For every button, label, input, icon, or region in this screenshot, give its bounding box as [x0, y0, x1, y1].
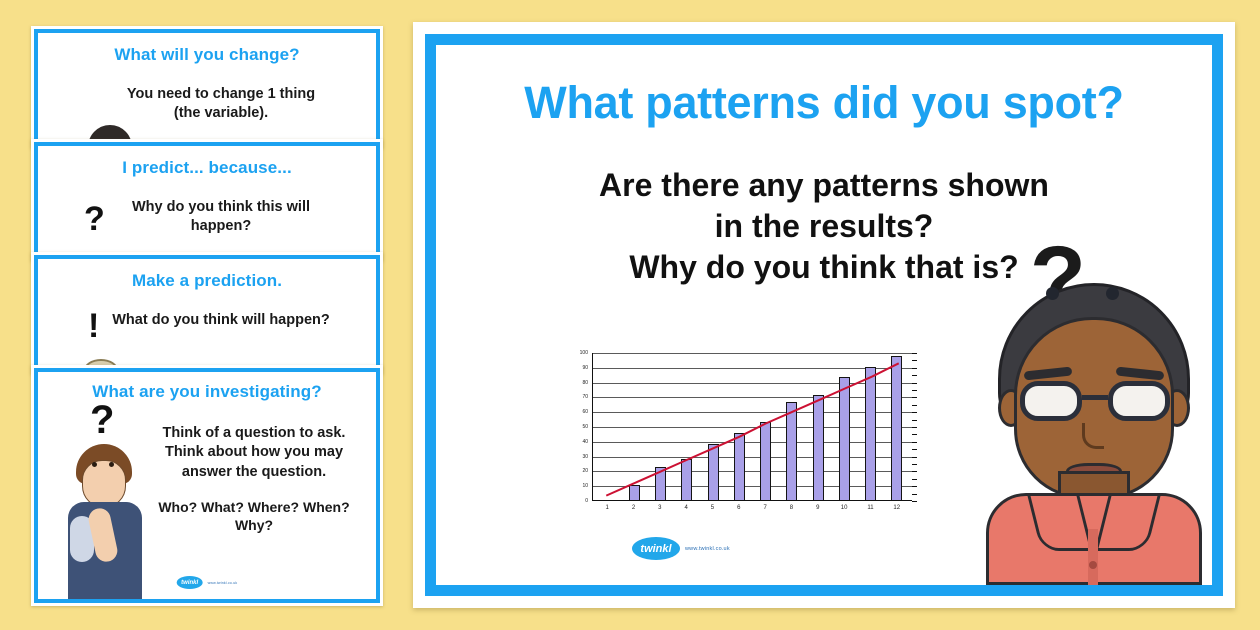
- chart-bar: [786, 402, 797, 500]
- chart-axis-tick: [912, 471, 917, 472]
- glasses-bridge: [1082, 395, 1108, 400]
- mini-card-title: I predict... because...: [38, 158, 376, 178]
- mini-card-inner: What will you change? You need to change…: [34, 29, 380, 145]
- chart-axis-tick: [912, 390, 917, 391]
- chart-axis-tick: [912, 442, 917, 443]
- chart-x-tick: 6: [726, 505, 752, 511]
- chart-y-tick: 10: [582, 483, 588, 489]
- twinkl-url: www.twinkl.co.uk: [685, 546, 730, 552]
- chart-bar-slot: [726, 353, 752, 500]
- mini-card-body-sub: Who? What? Where? When? Why?: [150, 498, 358, 535]
- main-poster-inner: What patterns did you spot? Are there an…: [425, 34, 1223, 596]
- glasses-lens-left: [1020, 381, 1082, 421]
- chart-bar: [629, 485, 640, 500]
- chart-x-axis: 123456789101112: [592, 505, 912, 511]
- chart-y-tick: 20: [582, 468, 588, 474]
- chart-axis-tick: [912, 420, 917, 421]
- chart-x-tick: 3: [647, 505, 673, 511]
- twinkl-cloud-icon: twinkl: [632, 537, 680, 560]
- glasses-lens-right: [1108, 381, 1170, 421]
- chart-axis-tick: [912, 412, 917, 413]
- boy-pupil-right: [1106, 287, 1119, 300]
- chart-y-tick: 100: [580, 350, 588, 356]
- chart-axis-tick: [912, 353, 917, 354]
- chart-x-tick: 2: [620, 505, 646, 511]
- chart-axis-tick: [912, 464, 917, 465]
- chart-x-tick: 7: [752, 505, 778, 511]
- chart-axis-tick: [912, 383, 917, 384]
- chart-bar: [655, 467, 666, 500]
- chart-axis-tick: [912, 375, 917, 376]
- boy-with-glasses-illustration: [980, 273, 1208, 585]
- mini-card-i-predict-because[interactable]: I predict... because... ? Why do you thi…: [31, 139, 383, 261]
- chart-plot-area: [592, 353, 912, 501]
- chart-x-tick: 11: [857, 505, 883, 511]
- chart-x-tick: 4: [673, 505, 699, 511]
- chart-axis-tick: [912, 494, 917, 495]
- twinkl-logo: twinkl www.twinkl.co.uk: [177, 576, 238, 589]
- twinkl-cloud-icon: twinkl: [177, 576, 203, 589]
- mini-card-inner: What are you investigating? ? Think of a…: [34, 368, 380, 603]
- chart-y-axis: 0102030405060708090100: [564, 353, 590, 501]
- boy-eye-left: [92, 462, 97, 467]
- chart-x-tick: 8: [778, 505, 804, 511]
- chart-y-tick: 70: [582, 394, 588, 400]
- chart-bar: [813, 395, 824, 500]
- mini-card-body: You need to change 1 thing (the variable…: [38, 85, 376, 122]
- boy-pupil-left: [1046, 287, 1059, 300]
- mini-card-what-will-you-change[interactable]: What will you change? You need to change…: [31, 26, 383, 148]
- chart-y-tick: 80: [582, 380, 588, 386]
- chart-bar-slot: [595, 353, 621, 500]
- chart-right-ticks: [912, 353, 917, 501]
- twinkl-logo: twinkl www.twinkl.co.uk: [632, 537, 730, 560]
- chart-axis-tick: [912, 434, 917, 435]
- chart-axis-tick: [912, 486, 917, 487]
- chart-bar-slot: [621, 353, 647, 500]
- chart-axis-tick: [912, 457, 917, 458]
- chart-bars: [593, 353, 912, 500]
- boy-shirt-placket: [1088, 529, 1098, 585]
- chart-bar-slot: [700, 353, 726, 500]
- mini-card-body-text: Think of a question to ask. Think about …: [163, 425, 346, 480]
- chart-bar-slot: [858, 353, 884, 500]
- chart-bar-slot: [831, 353, 857, 500]
- boy-face: [82, 460, 126, 508]
- chart-axis-tick: [912, 479, 917, 480]
- question-mark-icon: ?: [84, 202, 105, 236]
- exclamation-mark-icon: !: [88, 309, 99, 343]
- chart-y-tick: 40: [582, 439, 588, 445]
- chart-bar-slot: [884, 353, 910, 500]
- mini-card-inner: Make a prediction. ! What do you think w…: [34, 255, 380, 371]
- chart-y-tick: 0: [585, 498, 588, 504]
- mini-card-title: Make a prediction.: [38, 271, 376, 291]
- chart-y-tick: 60: [582, 409, 588, 415]
- left-card-stack: What will you change? You need to change…: [31, 26, 383, 606]
- boy-eye-right: [109, 462, 114, 467]
- chart-axis-tick: [912, 449, 917, 450]
- chart-axis-tick: [912, 368, 917, 369]
- chart-bar: [865, 367, 876, 500]
- page-title: What patterns did you spot?: [436, 77, 1212, 129]
- chart-bar-slot: [648, 353, 674, 500]
- question-line-1: Are there any patterns shown: [476, 165, 1172, 206]
- twinkl-url: www.twinkl.co.uk: [208, 581, 238, 585]
- chart-bar: [760, 422, 771, 500]
- results-bar-chart: 0102030405060708090100 123456789101112: [564, 353, 930, 523]
- chart-x-tick: 10: [831, 505, 857, 511]
- chart-x-tick: 12: [884, 505, 910, 511]
- chart-bar: [734, 433, 745, 500]
- mini-card-title: What will you change?: [38, 45, 376, 65]
- chart-axis-tick: [912, 360, 917, 361]
- chart-bar: [708, 444, 719, 500]
- chart-axis-tick: [912, 427, 917, 428]
- mini-card-what-are-you-investigating[interactable]: What are you investigating? ? Think of a…: [31, 365, 383, 606]
- chart-x-tick: 9: [805, 505, 831, 511]
- boy-shirt-button: [1089, 561, 1097, 569]
- chart-y-tick: 90: [582, 365, 588, 371]
- chart-bar-slot: [753, 353, 779, 500]
- main-question-text: Are there any patterns shown in the resu…: [436, 165, 1212, 288]
- chart-x-tick: 1: [594, 505, 620, 511]
- poster-stage: What will you change? You need to change…: [0, 0, 1260, 630]
- chart-bar: [839, 377, 850, 500]
- chart-axis-tick: [912, 397, 917, 398]
- glasses-icon: [1020, 381, 1170, 421]
- chart-bar: [681, 459, 692, 500]
- mini-card-title: What are you investigating?: [38, 382, 376, 402]
- chart-bar-slot: [779, 353, 805, 500]
- chart-y-tick: 50: [582, 424, 588, 430]
- thinking-boy-illustration: [62, 442, 148, 603]
- chart-bar-slot: [674, 353, 700, 500]
- chart-x-tick: 5: [699, 505, 725, 511]
- chart-axis-tick: [912, 501, 917, 502]
- chart-bar: [891, 356, 902, 500]
- chart-y-tick: 30: [582, 454, 588, 460]
- question-mark-icon: ?: [90, 400, 114, 440]
- mini-card-inner: I predict... because... ? Why do you thi…: [34, 142, 380, 258]
- chart-axis-tick: [912, 405, 917, 406]
- mini-card-make-a-prediction[interactable]: Make a prediction. ! What do you think w…: [31, 252, 383, 374]
- main-poster-card[interactable]: What patterns did you spot? Are there an…: [413, 22, 1235, 608]
- chart-bar-slot: [805, 353, 831, 500]
